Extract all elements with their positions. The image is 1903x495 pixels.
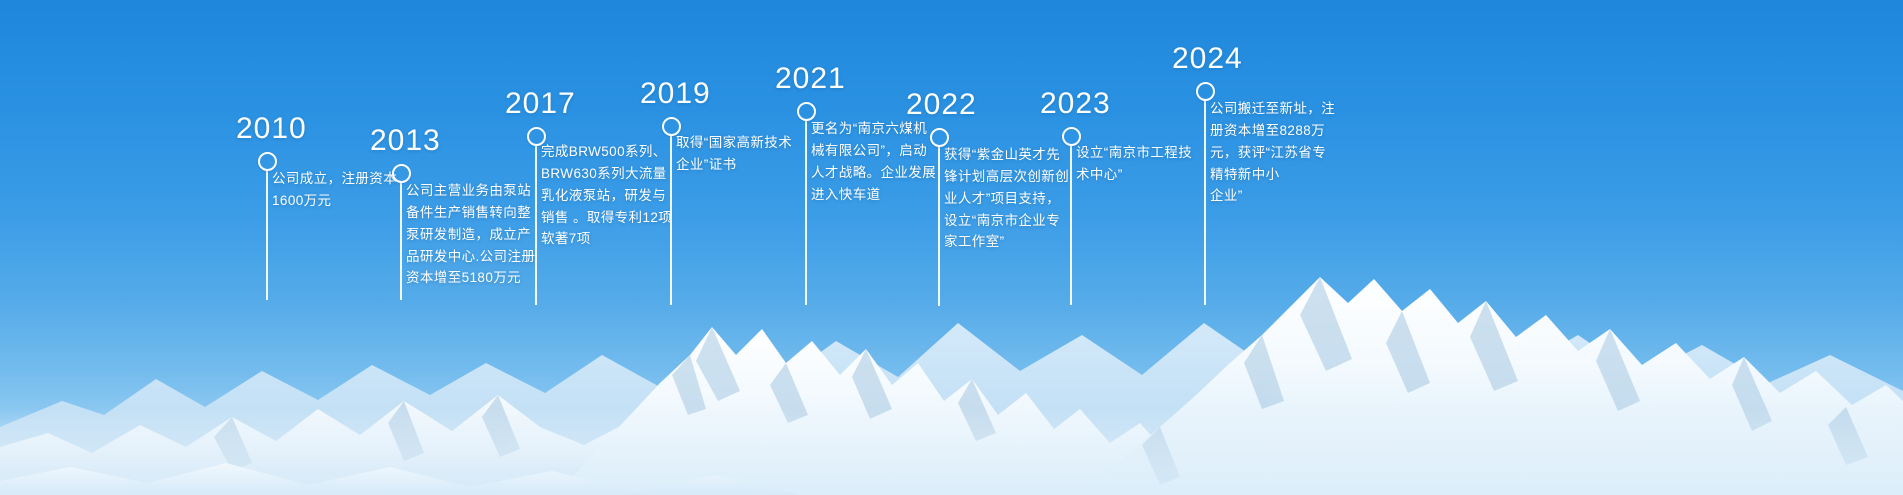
milestone-year-label: 2019 xyxy=(640,79,711,109)
milestone-year-label: 2021 xyxy=(775,64,846,94)
milestone-description: 公司搬迁至新址，注 册资本增至8288万 元，获评“江苏省专 精特新中小 企业” xyxy=(1210,98,1362,207)
milestone-stem-line xyxy=(266,170,268,300)
milestone-stem-line xyxy=(400,182,402,300)
milestone-description: 取得“国家高新技术 企业”证书 xyxy=(676,132,826,176)
milestone-stem-line xyxy=(805,120,807,305)
milestone-description: 获得“紫金山英才先 锋计划高层次创新创 业人才”项目支持， 设立“南京市企业专 … xyxy=(944,144,1096,253)
milestone-year-label: 2017 xyxy=(505,89,576,119)
milestone-year-label: 2022 xyxy=(906,90,977,120)
milestone-stem-line xyxy=(535,145,537,305)
timeline: 2010公司成立，注册资本 1600万元2013公司主营业务由泵站 备件生产销售… xyxy=(0,0,1903,495)
milestone-stem-line xyxy=(1070,145,1072,305)
milestone-stem-line xyxy=(1204,100,1206,305)
milestone-year-label: 2023 xyxy=(1040,89,1111,119)
milestone-year-label: 2024 xyxy=(1172,44,1243,74)
milestone-description: 公司主营业务由泵站 备件生产销售转向整 泵研发制造，成立产 品研发中心.公司注册… xyxy=(406,180,556,289)
milestone-year-label: 2010 xyxy=(236,114,307,144)
milestone-description: 完成BRW500系列、 BRW630系列大流量 乳化液泵站，研发与 销售 。取得… xyxy=(541,141,696,250)
milestone-year-label: 2013 xyxy=(370,126,441,156)
milestone-stem-line xyxy=(670,135,672,305)
milestone-stem-line xyxy=(938,146,940,306)
